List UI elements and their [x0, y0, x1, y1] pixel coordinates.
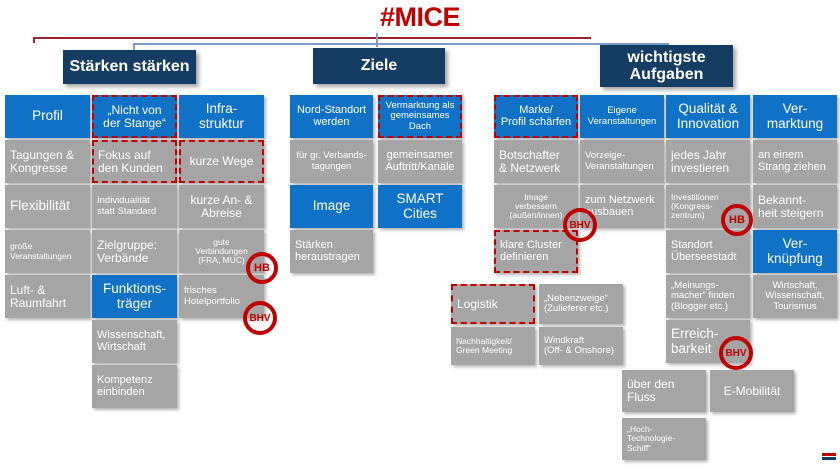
cell-klare-cluster-definieren-label-1: klare Cluster — [500, 240, 572, 252]
badge-bhv-hotelportfolio[interactable]: BHV — [243, 301, 277, 335]
badge-bhv-erreichbarkeit[interactable]: BHV — [719, 336, 753, 370]
cell-hoch-technologie-schiff[interactable]: „Hoch- Technologie- Schiff“ — [622, 418, 706, 460]
cell-nord-standort-werden-label-1: Nord-Standort — [295, 105, 368, 117]
cell-verknuepfung-label-2: knüpfung — [758, 252, 832, 267]
cell-jedes-jahr-investieren[interactable]: jedes Jahr investieren — [666, 140, 750, 183]
cell-individualitaet-statt-standard-label-2: statt Standard — [97, 207, 172, 217]
section-header-aufgaben-label-2: Aufgaben — [630, 66, 704, 83]
cell-tagungen-kongresse-label-2: Kongresse — [10, 162, 85, 175]
cell-qualitaet-innovation-label-2: Innovation — [671, 117, 745, 132]
cell-wirtschaft-wissenschaft-tourismus[interactable]: Wirtschaft, Wissenschaft, Tourismus — [753, 275, 837, 318]
cell-gemeinsamer-auftritt-kanaele[interactable]: gemeinsamer Auftritt/Kanäle — [378, 140, 462, 183]
cell-staerken-heraustragen-label-1: Stärken — [295, 240, 368, 252]
cell-marke-profil-schaerfen-label-1: Marke/ — [500, 105, 572, 117]
cell-ueber-den-fluss-label-2: Fluss — [627, 391, 701, 404]
cell-infrastruktur-label-2: struktur — [184, 117, 259, 132]
connector-drop-ziele — [376, 33, 378, 47]
cell-luft-raumfahrt[interactable]: Luft- & Raumfahrt — [5, 275, 90, 318]
cell-nord-standort-werden[interactable]: Nord-Standort werden — [290, 95, 373, 138]
cell-smart-cities-label-1: SMART — [383, 192, 457, 207]
cell-luft-raumfahrt-label-2: Raumfahrt — [10, 297, 85, 310]
badge-hb-investitionen-label: HB — [729, 214, 745, 226]
cell-nebenzweige-zulieferer-label-2: (Zulieferer etc.) — [544, 304, 618, 314]
cell-verknuepfung[interactable]: Ver- knüpfung — [753, 230, 837, 273]
connector-line-blue — [133, 43, 668, 45]
cell-vermarktung-label-1: Ver- — [758, 102, 832, 117]
cell-grosse-veranstaltungen[interactable]: große Veranstaltungen — [5, 230, 90, 273]
cell-vorzeige-veranstaltungen-label-2: Veranstaltungen — [585, 162, 659, 172]
cell-eigene-veranstaltungen[interactable]: Eigene Veranstaltungen — [580, 95, 664, 138]
cell-tagungen-kongresse-label-1: Tagungen & — [10, 149, 85, 162]
cell-image-label: Image — [295, 199, 368, 214]
cell-flexibilitaet-label: Flexibilität — [10, 199, 85, 214]
cell-an-einem-strang-ziehen-label-1: an einem — [758, 150, 832, 162]
badge-hb-investitionen[interactable]: HB — [721, 204, 753, 236]
cell-e-mobilitaet-label: E-Mobilität — [715, 385, 789, 398]
cell-kompetenz-einbinden-label-1: Kompetenz — [97, 375, 172, 387]
cell-wirtschaft-wissenschaft-tourismus-label-3: Tourismus — [758, 302, 832, 312]
cell-qualitaet-innovation-label-1: Qualität & — [671, 102, 745, 117]
section-header-ziele-label: Ziele — [361, 57, 397, 74]
corner-logo-mark — [822, 453, 836, 460]
cell-fokus-auf-den-kunden-label-2: den Kunden — [98, 162, 171, 175]
badge-bhv-erreichbarkeit-label: BHV — [725, 348, 746, 359]
cell-jedes-jahr-investieren-label-1: jedes Jahr — [671, 149, 745, 162]
cell-kurze-an-abreise-label-2: Abreise — [184, 207, 259, 220]
section-header-ziele[interactable]: Ziele — [313, 48, 445, 84]
cell-image-verbessern-label-3: (außen/innen) — [499, 211, 573, 220]
cell-botschafter-netzwerk[interactable]: Botschafter & Netzwerk — [494, 140, 578, 183]
cell-kompetenz-einbinden-label-2: einbinden — [97, 387, 172, 399]
cell-verknuepfung-label-1: Ver- — [758, 237, 832, 252]
corner-logo-blue-bar — [822, 457, 836, 460]
cell-an-einem-strang-ziehen-label-2: Strang ziehen — [758, 162, 832, 174]
cell-vermarktung[interactable]: Ver- marktung — [753, 95, 837, 138]
cell-zum-netzwerk-ausbauen-label-2: ausbauen — [585, 207, 659, 219]
cell-hoch-technologie-schiff-label-3: Schiff“ — [627, 444, 701, 453]
cell-klare-cluster-definieren-label-2: definieren — [500, 252, 572, 264]
badge-bhv-hotelportfolio-label: BHV — [249, 313, 270, 324]
cell-tagungen-kongresse[interactable]: Tagungen & Kongresse — [5, 140, 90, 183]
cell-jedes-jahr-investieren-label-2: investieren — [671, 162, 745, 175]
cell-bekanntheit-steigern-label-2: heit steigern — [758, 207, 832, 220]
connector-line-red — [33, 37, 591, 39]
cell-wissenschaft-wirtschaft-label-1: Wissenschaft, — [97, 330, 172, 342]
cell-wissenschaft-wirtschaft[interactable]: Wissenschaft, Wirtschaft — [92, 320, 177, 363]
cell-kurze-wege-label: kurze Wege — [185, 155, 258, 168]
cell-standort-ueberseestadt-label-2: Überseestadt — [671, 252, 745, 264]
cell-windkraft-label-2: (Off- & Onshore) — [544, 346, 618, 356]
section-header-staerken[interactable]: Stärken stärken — [63, 50, 196, 84]
cell-luft-raumfahrt-label-1: Luft- & — [10, 284, 85, 297]
cell-staerken-heraustragen-label-2: heraustragen — [295, 252, 368, 264]
cell-profil[interactable]: Profil — [5, 95, 90, 138]
cell-windkraft[interactable]: Windkraft (Off- & Onshore) — [539, 327, 623, 365]
cell-fuer-gr-verbandstagungen-label-2: tagungen — [295, 162, 368, 172]
cell-standort-ueberseestadt[interactable]: Standort Überseestadt — [666, 230, 750, 273]
cell-funktionstraeger[interactable]: Funktions- träger — [92, 275, 177, 318]
badge-bhv-image-verbessern-label: BHV — [569, 220, 590, 231]
badge-hb-verbindungen-label: HB — [254, 262, 270, 274]
cell-smart-cities-label-2: Cities — [383, 207, 457, 222]
cell-nord-standort-werden-label-2: werden — [295, 117, 368, 129]
cell-fokus-auf-den-kunden-label-1: Fokus auf — [98, 149, 171, 162]
cell-gemeinsamer-auftritt-kanaele-label-2: Auftritt/Kanäle — [383, 162, 457, 174]
cell-nicht-von-der-stange-label-2: der Stange“ — [98, 117, 171, 130]
cell-botschafter-netzwerk-label-1: Botschafter — [499, 149, 573, 162]
cell-botschafter-netzwerk-label-2: & Netzwerk — [499, 162, 573, 175]
cell-logistik-label: Logistik — [457, 298, 529, 311]
cell-funktionstraeger-label-2: träger — [97, 297, 172, 312]
cell-fokus-auf-den-kunden[interactable]: Fokus auf den Kunden — [92, 140, 177, 183]
cell-individualitaet-statt-standard-label-1: Individualität — [97, 196, 172, 206]
cell-logistik[interactable]: Logistik — [451, 284, 535, 324]
cell-meinungsmacher-finden[interactable]: „Meinungs- macher“ finden (Blogger etc.) — [666, 275, 750, 318]
cell-vermarktung-gemeinsames-dach[interactable]: Vermarktung als gemeinsames Dach — [378, 95, 462, 138]
cell-bekanntheit-steigern[interactable]: Bekannt- heit steigern — [753, 185, 837, 228]
cell-wissenschaft-wirtschaft-label-2: Wirtschaft — [97, 342, 172, 354]
cell-infrastruktur[interactable]: Infra- struktur — [179, 95, 264, 138]
cell-kompetenz-einbinden[interactable]: Kompetenz einbinden — [92, 365, 177, 408]
cell-meinungsmacher-finden-label-3: (Blogger etc.) — [671, 302, 745, 312]
cell-vorzeige-veranstaltungen[interactable]: Vorzeige- Veranstaltungen — [580, 140, 664, 183]
cell-klare-cluster-definieren[interactable]: klare Cluster definieren — [494, 230, 578, 273]
cell-funktionstraeger-label-1: Funktions- — [97, 282, 172, 297]
cell-nicht-von-der-stange-label-1: „Nicht von — [98, 104, 171, 117]
cell-eigene-veranstaltungen-label-1: Eigene — [585, 106, 659, 116]
slide-canvas: #MICE Stärken stärken Ziele wichtigste A… — [0, 0, 840, 472]
cell-smart-cities[interactable]: SMART Cities — [378, 185, 462, 228]
cell-image[interactable]: Image — [290, 185, 373, 228]
cell-kurze-wege[interactable]: kurze Wege — [179, 140, 264, 183]
section-header-staerken-label: Stärken stärken — [69, 58, 189, 75]
section-header-aufgaben-label-1: wichtigste — [627, 49, 705, 66]
cell-bekanntheit-steigern-label-1: Bekannt- — [758, 194, 832, 207]
cell-marke-profil-schaerfen[interactable]: Marke/ Profil schärfen — [494, 95, 578, 138]
cell-frisches-hotelportfolio-label-1: frisches — [184, 286, 259, 296]
cell-nachhaltigkeit-green-meeting-label-2: Green Meeting — [456, 346, 530, 355]
cell-fuer-gr-verbandstagungen[interactable]: für gr. Verbands- tagungen — [290, 140, 373, 183]
cell-zielgruppe-verbaende-label-2: Verbände — [97, 252, 172, 265]
cell-an-einem-strang-ziehen[interactable]: an einem Strang ziehen — [753, 140, 837, 183]
cell-gemeinsamer-auftritt-kanaele-label-1: gemeinsamer — [383, 150, 457, 162]
cell-standort-ueberseestadt-label-1: Standort — [671, 240, 745, 252]
cell-zielgruppe-verbaende-label-1: Zielgruppe: — [97, 239, 172, 252]
cell-ueber-den-fluss[interactable]: über den Fluss — [622, 370, 706, 412]
cell-marke-profil-schaerfen-label-2: Profil schärfen — [500, 117, 572, 129]
cell-e-mobilitaet[interactable]: E-Mobilität — [710, 370, 794, 412]
cell-individualitaet-statt-standard[interactable]: Individualität statt Standard — [92, 185, 177, 228]
cell-nicht-von-der-stange[interactable]: „Nicht von der Stange“ — [92, 95, 177, 138]
cell-flexibilitaet[interactable]: Flexibilität — [5, 185, 90, 228]
cell-vermarktung-gemeinsames-dach-label-3: Dach — [384, 122, 456, 132]
cell-eigene-veranstaltungen-label-2: Veranstaltungen — [585, 117, 659, 127]
cell-zielgruppe-verbaende[interactable]: Zielgruppe: Verbände — [92, 230, 177, 273]
connector-tick-red-left — [33, 37, 35, 43]
section-header-aufgaben[interactable]: wichtigste Aufgaben — [600, 45, 733, 87]
cell-profil-label: Profil — [10, 109, 85, 124]
cell-staerken-heraustragen[interactable]: Stärken heraustragen — [290, 230, 373, 273]
cell-kurze-an-abreise[interactable]: kurze An- & Abreise — [179, 185, 264, 228]
page-title: #MICE — [0, 2, 840, 33]
cell-vermarktung-label-2: marktung — [758, 117, 832, 132]
cell-zum-netzwerk-ausbauen-label-1: zum Netzwerk — [585, 195, 659, 207]
cell-grosse-veranstaltungen-label-2: Veranstaltungen — [10, 252, 85, 261]
corner-logo-red-bar — [822, 453, 836, 456]
cell-nachhaltigkeit-green-meeting[interactable]: Nachhaltigkeit/ Green Meeting — [451, 327, 535, 365]
cell-kurze-an-abreise-label-1: kurze An- & — [184, 194, 259, 207]
cell-nebenzweige-zulieferer[interactable]: „Nebenzweige“ (Zulieferer etc.) — [539, 284, 623, 324]
badge-hb-verbindungen[interactable]: HB — [246, 252, 278, 284]
cell-vorzeige-veranstaltungen-label-1: Vorzeige- — [585, 151, 659, 161]
cell-fuer-gr-verbandstagungen-label-1: für gr. Verbands- — [295, 151, 368, 161]
cell-infrastruktur-label-1: Infra- — [184, 102, 259, 117]
badge-bhv-image-verbessern[interactable]: BHV — [563, 208, 597, 242]
cell-qualitaet-innovation[interactable]: Qualität & Innovation — [666, 95, 750, 138]
